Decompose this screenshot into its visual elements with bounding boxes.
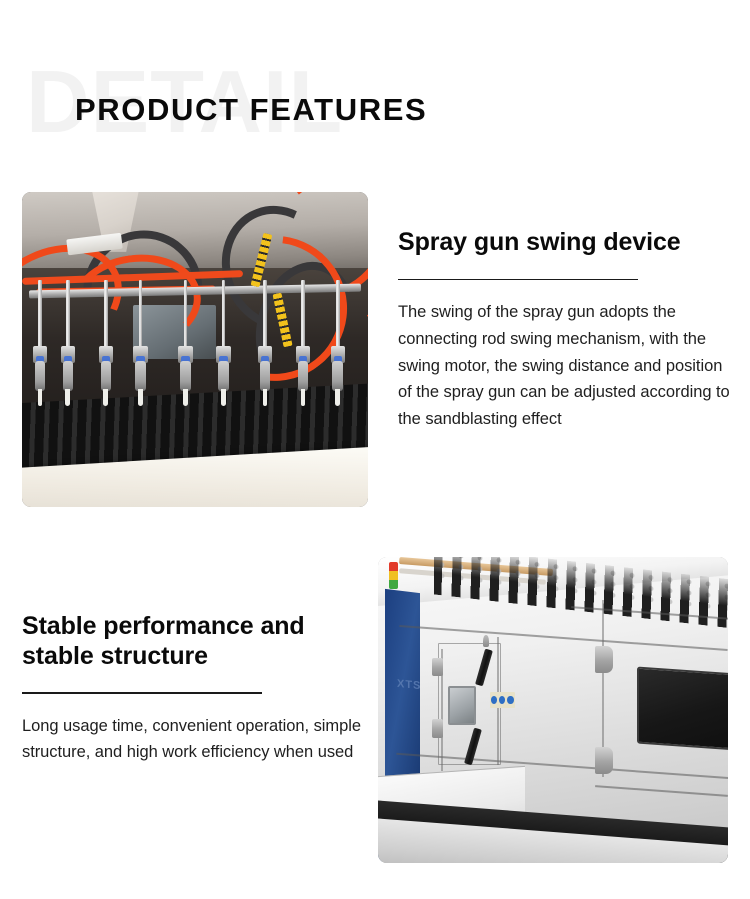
gun-body	[135, 361, 146, 391]
spray-gun	[295, 280, 311, 406]
gun-tip	[263, 389, 268, 407]
spray-gun	[60, 280, 76, 406]
gun-body	[63, 361, 74, 391]
door-pin	[483, 635, 489, 647]
signal-light-tower	[389, 562, 398, 590]
page-header: DETAIL PRODUCT FEATURES	[0, 0, 750, 170]
door-latch	[432, 658, 443, 676]
gun-rod	[38, 280, 42, 353]
product-features-page: DETAIL PRODUCT FEATURES	[0, 0, 750, 899]
gun-tip	[335, 389, 340, 407]
feature-row-spray-gun: Spray gun swing device The swing of the …	[0, 192, 750, 507]
spray-gun	[257, 280, 273, 406]
feature-row-stable-performance: Stable performance and stable structure …	[0, 557, 750, 863]
gun-body	[298, 361, 309, 391]
photo-inner: XTS	[378, 557, 728, 863]
spray-gun	[216, 280, 232, 406]
sticker-icon	[507, 696, 513, 704]
gun-tip	[65, 389, 70, 407]
feature-title: Spray gun swing device	[398, 228, 738, 258]
title-divider	[398, 279, 638, 281]
gun-body	[180, 361, 191, 391]
feature-text-stable-performance: Stable performance and stable structure …	[22, 612, 372, 766]
dark-viewing-panel	[637, 667, 728, 750]
gun-tip	[138, 389, 143, 407]
gun-rod	[66, 280, 70, 353]
gun-body	[218, 361, 229, 391]
gun-rod	[104, 280, 108, 353]
sticker-icon	[499, 696, 505, 704]
gun-rod	[139, 280, 143, 353]
gun-tip	[301, 389, 306, 407]
gun-rod	[336, 280, 340, 353]
gun-rod	[222, 280, 226, 353]
spray-gun	[178, 280, 194, 406]
gun-tip	[221, 389, 226, 407]
gun-rod	[263, 280, 267, 353]
spray-gun	[330, 280, 346, 406]
spray-gun-array-photo	[22, 192, 368, 507]
spray-gun	[133, 280, 149, 406]
feature-description: The swing of the spray gun adopts the co…	[398, 299, 738, 433]
spray-gun	[98, 280, 114, 406]
gun-tip	[103, 389, 108, 407]
spray-gun	[32, 280, 48, 406]
safety-sticker	[490, 692, 515, 709]
gun-tip	[183, 389, 188, 407]
machine-cabinet-photo: XTS	[378, 557, 728, 863]
door-latch	[432, 719, 443, 737]
feature-title: Stable performance and stable structure	[22, 612, 372, 671]
photo-inner	[22, 192, 368, 507]
door-latch	[595, 747, 613, 775]
feature-description: Long usage time, convenient operation, s…	[22, 713, 372, 766]
gun-rod	[184, 280, 188, 353]
gun-rod	[301, 280, 305, 353]
inspection-window	[448, 686, 476, 726]
gun-tip	[38, 389, 43, 407]
gun-body	[260, 361, 271, 391]
door-latch	[595, 646, 613, 674]
title-divider	[22, 692, 262, 694]
gun-body	[35, 361, 46, 391]
gun-body	[332, 361, 343, 391]
page-title: PRODUCT FEATURES	[75, 93, 427, 127]
sticker-icon	[491, 696, 497, 704]
feature-text-spray-gun: Spray gun swing device The swing of the …	[398, 228, 738, 433]
gun-body	[101, 361, 112, 391]
